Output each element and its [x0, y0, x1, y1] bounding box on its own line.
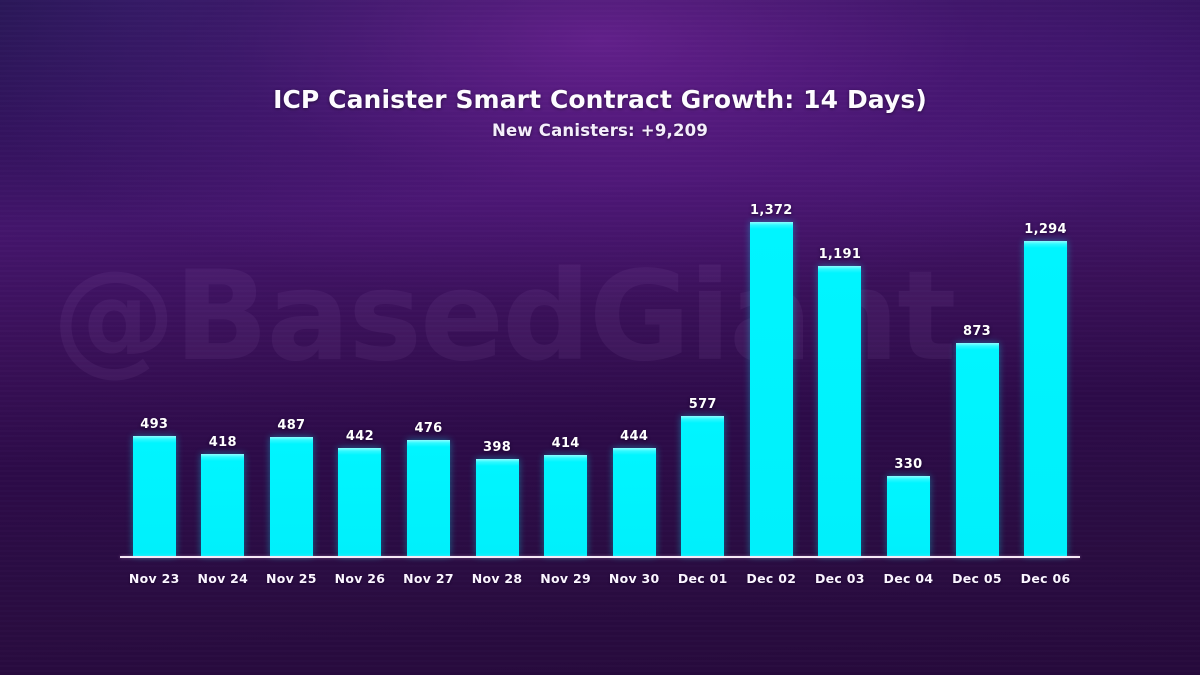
- bar-value-label: 873: [963, 324, 991, 339]
- bar-value-label: 1,191: [819, 247, 862, 262]
- bar-group: 873Dec 05: [943, 180, 1012, 556]
- x-axis-tick-label: Nov 27: [403, 571, 454, 586]
- chart-canvas: @BasedGiant ICP Canister Smart Contract …: [0, 0, 1200, 675]
- bar[interactable]: [1024, 241, 1067, 556]
- bar[interactable]: [956, 343, 999, 556]
- x-axis-tick-label: Dec 01: [678, 571, 728, 586]
- bar[interactable]: [544, 455, 587, 556]
- bar-value-label: 442: [346, 429, 374, 444]
- bar[interactable]: [681, 416, 724, 556]
- bar[interactable]: [887, 476, 930, 556]
- bar[interactable]: [476, 459, 519, 556]
- bar-value-label: 577: [689, 397, 717, 412]
- bar-group: 330Dec 04: [874, 180, 943, 556]
- bar-value-label: 330: [894, 457, 922, 472]
- bar-group: 577Dec 01: [669, 180, 738, 556]
- bar-value-label: 1,294: [1024, 222, 1067, 237]
- bar-group: 1,372Dec 02: [737, 180, 806, 556]
- bar[interactable]: [613, 448, 656, 556]
- bar-group: 444Nov 30: [600, 180, 669, 556]
- x-axis-tick-label: Dec 03: [815, 571, 865, 586]
- bar-series: 493Nov 23418Nov 24487Nov 25442Nov 26476N…: [120, 180, 1080, 556]
- bar[interactable]: [201, 454, 244, 556]
- bar-group: 476Nov 27: [394, 180, 463, 556]
- bar-value-label: 487: [277, 418, 305, 433]
- bar[interactable]: [750, 222, 793, 556]
- bar[interactable]: [818, 266, 861, 556]
- x-axis-tick-label: Nov 24: [197, 571, 248, 586]
- x-axis-tick-label: Nov 25: [266, 571, 317, 586]
- x-axis-tick-label: Dec 04: [884, 571, 934, 586]
- bar-group: 1,294Dec 06: [1011, 180, 1080, 556]
- x-axis-line: [120, 556, 1080, 558]
- x-axis-tick-label: Dec 06: [1021, 571, 1071, 586]
- bar-value-label: 476: [414, 421, 442, 436]
- bar-group: 418Nov 24: [189, 180, 258, 556]
- bar[interactable]: [407, 440, 450, 556]
- bar-group: 442Nov 26: [326, 180, 395, 556]
- bar-value-label: 493: [140, 417, 168, 432]
- chart-title: ICP Canister Smart Contract Growth: 14 D…: [0, 85, 1200, 114]
- x-axis-tick-label: Nov 28: [472, 571, 523, 586]
- x-axis-tick-label: Nov 30: [609, 571, 660, 586]
- chart-subtitle: New Canisters: +9,209: [0, 121, 1200, 140]
- bar-value-label: 414: [552, 436, 580, 451]
- bar-value-label: 1,372: [750, 203, 793, 218]
- bar-group: 493Nov 23: [120, 180, 189, 556]
- bar-group: 1,191Dec 03: [806, 180, 875, 556]
- x-axis-tick-label: Nov 23: [129, 571, 180, 586]
- plot-area: 493Nov 23418Nov 24487Nov 25442Nov 26476N…: [120, 180, 1080, 556]
- x-axis-tick-label: Dec 05: [952, 571, 1002, 586]
- bar-value-label: 444: [620, 429, 648, 444]
- bar-group: 398Nov 28: [463, 180, 532, 556]
- bar[interactable]: [338, 448, 381, 556]
- bar[interactable]: [270, 437, 313, 556]
- bar-value-label: 418: [209, 435, 237, 450]
- x-axis-tick-label: Dec 02: [746, 571, 796, 586]
- x-axis-tick-label: Nov 29: [540, 571, 591, 586]
- bar-group: 414Nov 29: [531, 180, 600, 556]
- bar-value-label: 398: [483, 440, 511, 455]
- x-axis-tick-label: Nov 26: [335, 571, 386, 586]
- title-block: ICP Canister Smart Contract Growth: 14 D…: [0, 85, 1200, 140]
- bar-group: 487Nov 25: [257, 180, 326, 556]
- bar[interactable]: [133, 436, 176, 556]
